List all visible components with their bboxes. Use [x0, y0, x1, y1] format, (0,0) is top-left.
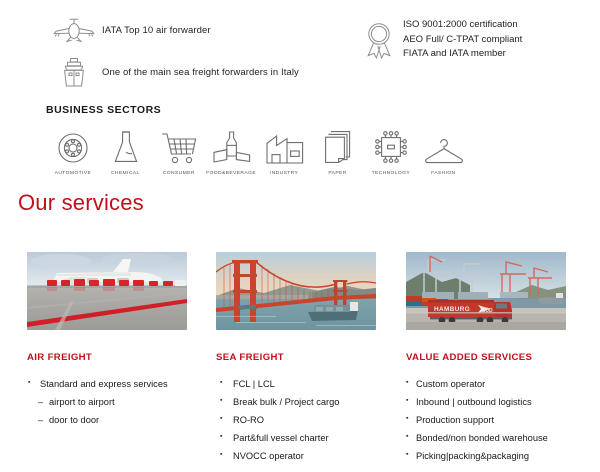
- sector-industry: INDUSTRY: [258, 128, 311, 175]
- service-title-value-added-services: VALUE ADDED SERVICES: [406, 352, 592, 363]
- bottle-box-icon: [212, 128, 252, 164]
- flask-icon: [113, 128, 139, 164]
- sector-automotive: AUTOMOTIVE: [46, 128, 99, 175]
- highlight-air-freight: IATA Top 10 air forwarder: [46, 14, 366, 48]
- service-column-air-freight: AIR FREIGHT Standard and express service…: [27, 252, 213, 429]
- list-item: Bonded/non bonded warehouse: [406, 429, 592, 447]
- tire-icon: [57, 128, 89, 164]
- sector-label-consumer: CONSUMER: [163, 170, 195, 175]
- list-item: Picking|packing&packaging: [406, 447, 592, 465]
- list-item: NVOCC operator: [216, 447, 402, 465]
- service-column-sea-freight: SEA FREIGHT FCL | LCL Break bulk / Proje…: [216, 252, 402, 465]
- factory-icon: [266, 128, 304, 164]
- business-sectors-title: BUSINESS SECTORS: [46, 104, 566, 116]
- certification-line-1: ISO 9001:2000 certification: [403, 18, 522, 33]
- sector-consumer: CONSUMER: [152, 128, 205, 175]
- business-sectors-section: BUSINESS SECTORS AUTOM: [46, 104, 566, 175]
- list-item: Custom operator: [406, 375, 592, 393]
- list-item: Standard and express services: [27, 375, 213, 393]
- sector-fashion: FASHION: [417, 128, 470, 175]
- certification-line-2: AEO Full/ C-TPAT compliant: [403, 33, 522, 48]
- list-item: Part&full vessel charter: [216, 429, 402, 447]
- value-added-services-photo: HAMBURG SÜD: [406, 252, 566, 330]
- ship-front-icon: [46, 56, 102, 90]
- sector-paper: PAPER: [311, 128, 364, 175]
- list-item: door to door: [27, 411, 213, 429]
- highlight-sea-freight: One of the main sea freight forwarders i…: [46, 56, 366, 90]
- highlights-right: ISO 9001:2000 certification AEO Full/ C-…: [355, 18, 595, 62]
- our-services-heading: Our services: [18, 190, 144, 216]
- service-list-air-freight: Standard and express services airport to…: [27, 375, 213, 429]
- service-title-air-freight: AIR FREIGHT: [27, 352, 213, 363]
- clothes-hanger-icon: [424, 128, 464, 164]
- sector-chemical: CHEMICAL: [99, 128, 152, 175]
- list-item: RO-RO: [216, 411, 402, 429]
- sector-label-fashion: FASHION: [431, 170, 455, 175]
- paper-stack-icon: [324, 128, 352, 164]
- highlights-left: IATA Top 10 air forwarder One of the mai…: [46, 14, 366, 98]
- list-item: FCL | LCL: [216, 375, 402, 393]
- highlights-section: IATA Top 10 air forwarder One of the mai…: [0, 14, 600, 92]
- certification-line-3: FIATA and IATA member: [403, 47, 522, 62]
- highlight-air-freight-label: IATA Top 10 air forwarder: [102, 24, 211, 38]
- service-list-value-added-services: Custom operator Inbound | outbound logis…: [406, 375, 592, 465]
- shopping-cart-icon: [161, 128, 197, 164]
- airplane-front-icon: [46, 14, 102, 48]
- list-item: airport to airport: [27, 393, 213, 411]
- list-item: Inbound | outbound logistics: [406, 393, 592, 411]
- certification-lines: ISO 9001:2000 certification AEO Full/ C-…: [403, 18, 522, 62]
- sector-label-chemical: CHEMICAL: [111, 170, 140, 175]
- sector-label-industry: INDUSTRY: [270, 170, 298, 175]
- highlight-sea-freight-label: One of the main sea freight forwarders i…: [102, 66, 299, 80]
- svg-text:HAMBURG: HAMBURG: [434, 306, 470, 313]
- award-rosette-icon: [355, 18, 403, 60]
- air-freight-photo: [27, 252, 187, 330]
- sector-technology: TECHNOLOGY: [364, 128, 417, 175]
- service-title-sea-freight: SEA FREIGHT: [216, 352, 402, 363]
- sector-label-food-beverage: FOOD&BEVERAGE: [207, 170, 257, 175]
- sector-label-technology: TECHNOLOGY: [371, 170, 410, 175]
- sector-food-beverage: FOOD&BEVERAGE: [205, 128, 258, 175]
- microchip-icon: [374, 128, 408, 164]
- certifications-block: ISO 9001:2000 certification AEO Full/ C-…: [355, 18, 595, 62]
- sector-label-paper: PAPER: [328, 170, 346, 175]
- brochure-page: IATA Top 10 air forwarder One of the mai…: [0, 0, 600, 472]
- sea-freight-photo: [216, 252, 376, 330]
- business-sectors-row: AUTOMOTIVE CHEMICAL: [46, 128, 566, 175]
- list-item: Break bulk / Project cargo: [216, 393, 402, 411]
- list-item: Production support: [406, 411, 592, 429]
- sector-label-automotive: AUTOMOTIVE: [54, 170, 91, 175]
- service-list-sea-freight: FCL | LCL Break bulk / Project cargo RO-…: [216, 375, 402, 465]
- service-column-value-added-services: HAMBURG SÜD VALUE ADDED SERVICES: [406, 252, 592, 465]
